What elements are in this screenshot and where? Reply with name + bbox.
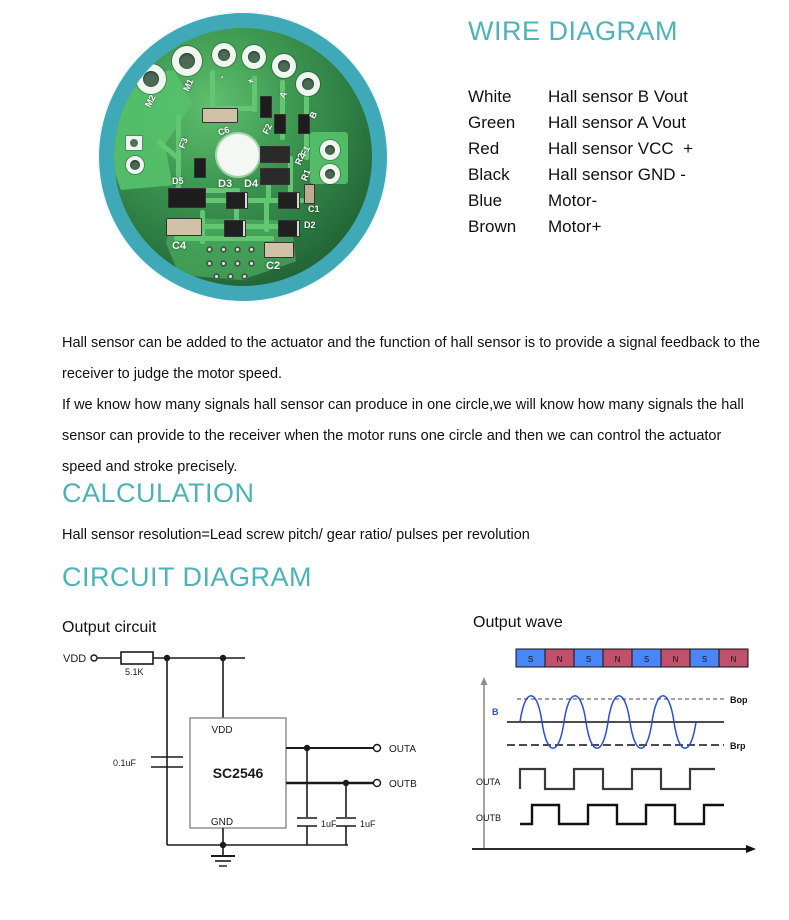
wire-function: Motor+ — [548, 214, 601, 240]
pcb-component-d5 — [194, 158, 206, 178]
wire-color: Red — [468, 136, 548, 162]
pcb-board: M2 M1 - + A B C6 F2 F1 F3 R2 R1 D5 D3 D4… — [114, 28, 372, 286]
wire-color: Green — [468, 110, 548, 136]
pcb-silk-f2: F2 — [260, 122, 274, 136]
wire-function: Hall sensor A Vout — [548, 110, 686, 136]
calculation-formula: Hall sensor resolution=Lead screw pitch/… — [62, 527, 530, 543]
pcb-center-hole — [217, 134, 259, 176]
outa-waveform — [520, 769, 715, 789]
outa-channel-label: OUTA — [476, 777, 500, 787]
wire-color: Blue — [468, 188, 548, 214]
magnet-pole-label: S — [702, 655, 707, 664]
circuit-diagram-heading: CIRCUIT DIAGRAM — [62, 562, 312, 593]
table-row: Blue Motor- — [468, 188, 693, 214]
wire-function: Motor- — [548, 188, 597, 214]
pcb-component-ic — [168, 188, 206, 208]
pcb-pad-left-lower — [126, 156, 144, 174]
pcb-silk-d3: D3 — [218, 178, 232, 190]
pcb-via — [248, 260, 255, 267]
pcb-component-r2 — [260, 146, 290, 163]
wire-color: Brown — [468, 214, 548, 240]
resistor-label: 5.1K — [125, 667, 144, 677]
ic-vdd-pin-label: VDD — [211, 725, 232, 736]
wire-diagram-table: White Hall sensor B Vout Green Hall sens… — [468, 84, 693, 240]
ic-name-label: SC2546 — [213, 765, 264, 781]
circuit-diagram-section: Output circuit Output wave — [0, 605, 789, 905]
pcb-silk-c1: C1 — [308, 204, 320, 214]
pcb-component-r1 — [260, 168, 290, 185]
magnet-pole-label: N — [615, 655, 621, 664]
pcb-silk-c2: C2 — [266, 260, 280, 272]
pcb-pad-m2 — [136, 64, 166, 94]
output-wave-title: Output wave — [473, 614, 563, 632]
pcb-via — [227, 273, 234, 280]
outb-label: OUTB — [389, 779, 417, 790]
description-text: Hall sensor can be added to the actuator… — [62, 328, 762, 483]
pcb-via — [206, 246, 213, 253]
pcb-via — [234, 260, 241, 267]
pcb-via — [234, 246, 241, 253]
pcb-pad-minus — [212, 43, 236, 67]
outb-waveform — [520, 805, 724, 824]
vdd-source-label: VDD — [63, 653, 86, 665]
outb-channel-label: OUTB — [476, 813, 501, 823]
paragraph-2: If we know how many signals hall sensor … — [62, 390, 762, 483]
wave-axes — [481, 677, 488, 849]
pcb-component-c2 — [264, 242, 294, 258]
pcb-component-d3 — [226, 192, 248, 209]
magnet-pole-label: S — [644, 655, 649, 664]
pcb-silk-d4: D4 — [244, 178, 258, 190]
pcb-silk-minus: - — [216, 74, 226, 80]
pcb-silk-r2: R2 — [293, 152, 307, 166]
pcb-pad-b — [296, 72, 320, 96]
magnet-pole-label: N — [557, 655, 563, 664]
paragraph-1: Hall sensor can be added to the actuator… — [62, 328, 762, 390]
pcb-pad-right-upper — [320, 140, 340, 160]
pcb-pad-right-lower — [320, 164, 340, 184]
pcb-via — [213, 273, 220, 280]
pcb-component-f2 — [260, 96, 272, 118]
calculation-heading: CALCULATION — [62, 478, 255, 509]
magnet-pole-label: S — [586, 655, 591, 664]
output-circuit-schematic: VDD 5.1K 0.1uF VDD SC2546 GND OUTA OUTB … — [55, 645, 455, 900]
pcb-component-c1 — [304, 184, 315, 204]
pcb-pad-m1 — [172, 46, 202, 76]
output-wave-diagram: S N S N S N S N — [462, 637, 782, 877]
pcb-component-d2 — [278, 192, 300, 209]
magnet-pole-label: N — [731, 655, 737, 664]
table-row: Brown Motor+ — [468, 214, 693, 240]
pcb-silk-d1: D1 — [114, 28, 126, 38]
ic-gnd-pin-label: GND — [211, 817, 233, 828]
pcb-photo: M2 M1 - + A B C6 F2 F1 F3 R2 R1 D5 D3 D4… — [98, 12, 388, 302]
pcb-silk-c4: C4 — [172, 240, 186, 252]
wire-color: White — [468, 84, 548, 110]
pcb-component-f1b — [298, 114, 310, 134]
table-row: Black Hall sensor GND - — [468, 162, 693, 188]
magnet-pole-strip: S N S N S N S N — [516, 649, 748, 667]
pcb-via — [220, 246, 227, 253]
table-row: Red Hall sensor VCC + — [468, 136, 693, 162]
wire-color: Black — [468, 162, 548, 188]
cap-a-label: 1uF — [321, 819, 337, 829]
wire-function: Hall sensor GND - — [548, 162, 686, 188]
pcb-via — [206, 260, 213, 267]
threshold-high-label: Bop — [730, 695, 748, 705]
output-circuit-title: Output circuit — [62, 619, 156, 637]
pcb-pad-a — [272, 54, 296, 78]
pcb-silk-d2: D2 — [304, 220, 316, 230]
wire-function: Hall sensor B Vout — [548, 84, 688, 110]
pcb-component-f1a — [274, 114, 286, 134]
cap-input-label: 0.1uF — [113, 758, 137, 768]
pcb-component-d1 — [278, 220, 300, 237]
wire-function: Hall sensor VCC + — [548, 136, 693, 162]
outa-label: OUTA — [389, 744, 416, 755]
pcb-trace — [210, 70, 215, 110]
pcb-via — [248, 246, 255, 253]
pcb-silk-d5: D5 — [172, 176, 184, 186]
table-row: Green Hall sensor A Vout — [468, 110, 693, 136]
magnet-pole-label: S — [528, 655, 533, 664]
cap-b-label: 1uF — [360, 819, 376, 829]
pcb-component-c4 — [166, 218, 202, 236]
pcb-pad-plus — [242, 45, 266, 69]
pcb-via — [241, 273, 248, 280]
magnet-pole-label: N — [673, 655, 679, 664]
pcb-via — [220, 260, 227, 267]
pcb-square-pad — [126, 136, 142, 150]
threshold-low-label: Brp — [730, 741, 746, 751]
wire-diagram-heading: WIRE DIAGRAM — [468, 16, 678, 47]
b-axis-label: B — [492, 707, 499, 717]
table-row: White Hall sensor B Vout — [468, 84, 693, 110]
pcb-component-c6 — [202, 108, 238, 123]
pcb-component-d4 — [224, 220, 246, 237]
